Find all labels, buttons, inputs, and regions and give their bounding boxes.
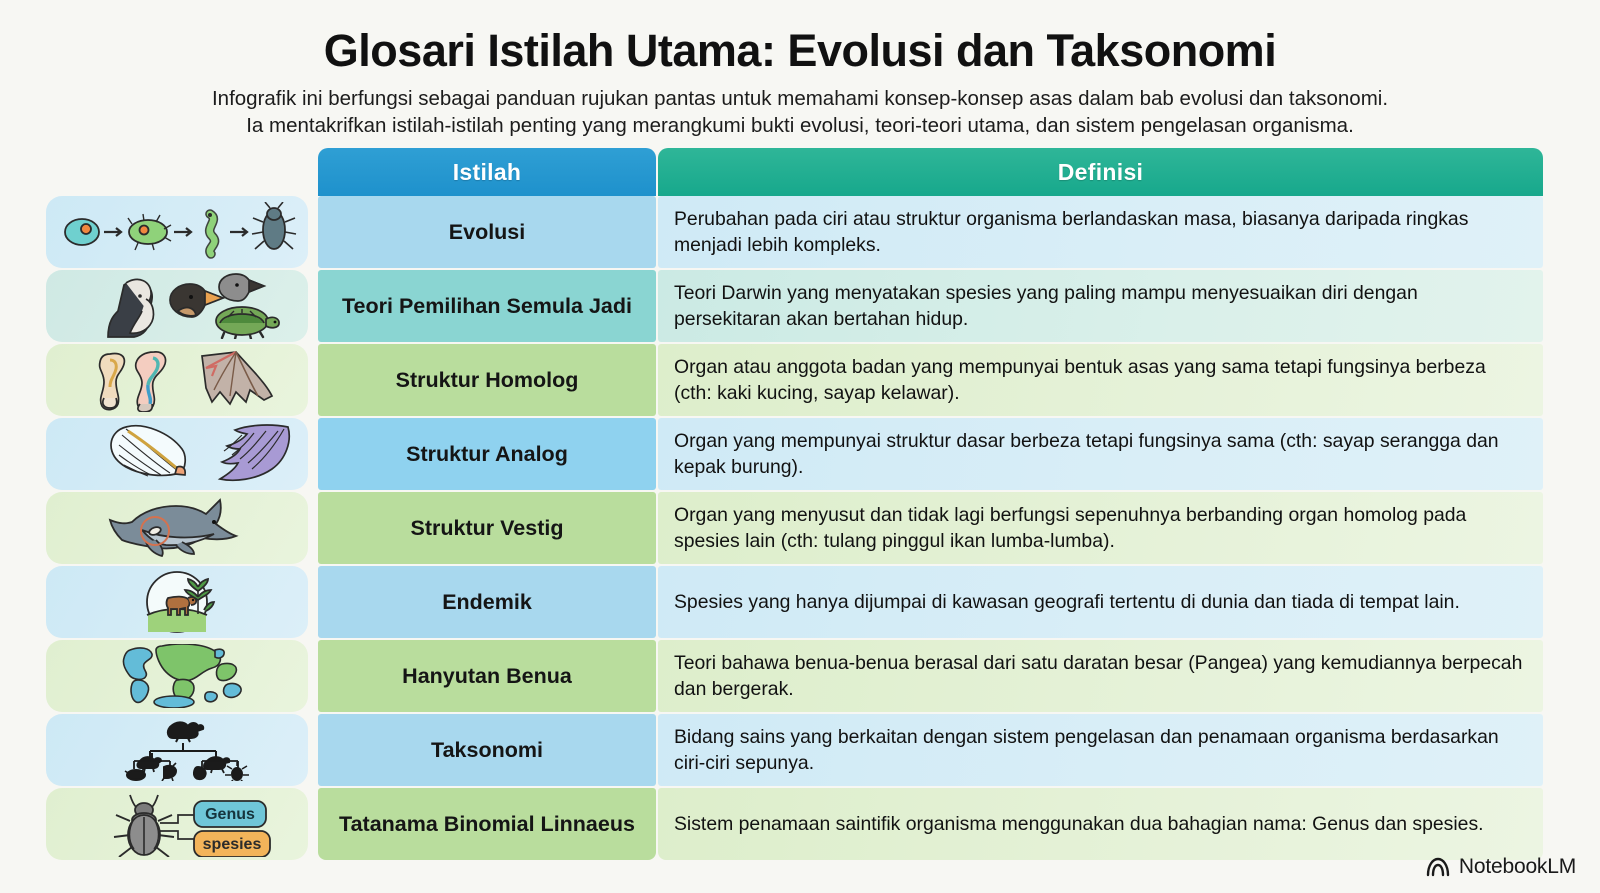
term-label: Tatanama Binomial Linnaeus: [318, 788, 656, 860]
definition-text: Organ yang mempunyai struktur dasar berb…: [658, 418, 1543, 490]
definition-text: Sistem penamaan saintifik organisma meng…: [658, 788, 1543, 860]
insect-wing-bird-wing-icon: [46, 418, 308, 490]
table-row: Teori Pemilihan Semula Jadi Teori Darwin…: [0, 270, 1600, 342]
notebooklm-label: NotebookLM: [1459, 855, 1576, 879]
table-row: Struktur Analog Organ yang mempunyai str…: [0, 418, 1600, 490]
table-row: Struktur Vestig Organ yang menyusut dan …: [0, 492, 1600, 564]
table-row: Taksonomi Bidang sains yang berkaitan de…: [0, 714, 1600, 786]
table-row: Evolusi Perubahan pada ciri atau struktu…: [0, 196, 1600, 268]
definition-text: Organ atau anggota badan yang mempunyai …: [658, 344, 1543, 416]
term-label: Taksonomi: [318, 714, 656, 786]
homologous-limbs-bat-wing-icon: [46, 344, 308, 416]
page-title: Glosari Istilah Utama: Evolusi dan Takso…: [0, 0, 1600, 75]
genus-badge-label: Genus: [205, 806, 255, 823]
definition-text: Teori Darwin yang menyatakan spesies yan…: [658, 270, 1543, 342]
definition-text: Teori bahawa benua-benua berasal dari sa…: [658, 640, 1543, 712]
term-label: Teori Pemilihan Semula Jadi: [318, 270, 656, 342]
column-header-definition: Definisi: [658, 148, 1543, 196]
definition-text: Spesies yang hanya dijumpai di kawasan g…: [658, 566, 1543, 638]
darwin-finches-tortoise-icon: [46, 270, 308, 342]
term-label: Evolusi: [318, 196, 656, 268]
glossary-table: Istilah Definisi: [0, 148, 1600, 862]
table-header-row: Istilah Definisi: [318, 148, 1600, 196]
notebooklm-arc-icon: [1425, 856, 1451, 878]
term-label: Hanyutan Benua: [318, 640, 656, 712]
species-badge-label: spesies: [203, 836, 262, 853]
evolution-sequence-icon: [46, 196, 308, 268]
taxonomy-tree-icon: [46, 714, 308, 786]
definition-text: Bidang sains yang berkaitan dengan siste…: [658, 714, 1543, 786]
infographic-page: Glosari Istilah Utama: Evolusi dan Takso…: [0, 0, 1600, 893]
term-label: Struktur Analog: [318, 418, 656, 490]
column-header-term: Istilah: [318, 148, 656, 196]
subtitle-line-2: Ia mentakrifkan istilah-istilah penting …: [0, 112, 1600, 139]
binomial-nomenclature-beetle-icon: Genus spesies: [46, 788, 308, 860]
endemic-species-habitat-icon: [46, 566, 308, 638]
page-subtitle: Infografik ini berfungsi sebagai panduan…: [0, 85, 1600, 140]
term-label: Struktur Vestig: [318, 492, 656, 564]
table-row: Genus spesies Tatanama Binomial Linnaeus…: [0, 788, 1600, 860]
continental-drift-map-icon: [46, 640, 308, 712]
definition-text: Organ yang menyusut dan tidak lagi berfu…: [658, 492, 1543, 564]
dolphin-vestigial-pelvis-icon: [46, 492, 308, 564]
table-row: Endemik Spesies yang hanya dijumpai di k…: [0, 566, 1600, 638]
definition-text: Perubahan pada ciri atau struktur organi…: [658, 196, 1543, 268]
term-label: Struktur Homolog: [318, 344, 656, 416]
table-row: Struktur Homolog Organ atau anggota bada…: [0, 344, 1600, 416]
table-row: Hanyutan Benua Teori bahawa benua-benua …: [0, 640, 1600, 712]
subtitle-line-1: Infografik ini berfungsi sebagai panduan…: [212, 87, 1388, 110]
term-label: Endemik: [318, 566, 656, 638]
footer-branding: NotebookLM: [1425, 855, 1576, 879]
